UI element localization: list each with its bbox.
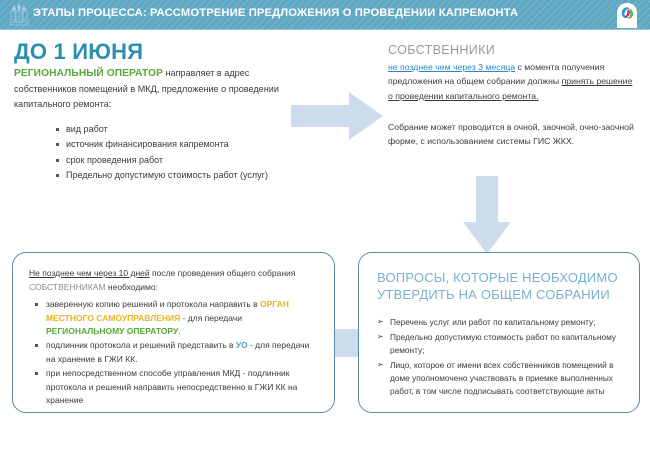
bullet-pre: подлинник протокола и решений представит… bbox=[46, 340, 236, 350]
bullet-pre: заверенную копию решений и протокола нап… bbox=[46, 299, 260, 309]
box-after-meeting-actions: Не позднее чем через 10 дней после прове… bbox=[12, 252, 335, 413]
list-item: подлинник протокола и решений представит… bbox=[35, 339, 318, 366]
arrow-right-icon bbox=[291, 92, 383, 140]
box-left-intro-end: необходимо: bbox=[106, 282, 158, 292]
box-left-bullet-list: заверенную копию решений и протокола нап… bbox=[29, 298, 318, 407]
coat-of-arms-icon bbox=[8, 2, 30, 28]
heading-deadline-date: ДО 1 ИЮНЯ bbox=[14, 40, 314, 63]
list-item: вид работ bbox=[56, 122, 314, 137]
left-top-paragraph: РЕГИОНАЛЬНЫЙ ОПЕРАТОР направляет в адрес… bbox=[14, 66, 314, 111]
right-top-paragraph: не позднее чем через 3 месяца с момента … bbox=[388, 60, 638, 103]
regional-operator-label: РЕГИОНАЛЬНЫЙ ОПЕРАТОР bbox=[14, 68, 163, 79]
management-company-label: УО bbox=[236, 340, 248, 350]
right-top-block: СОБСТВЕННИКИ не позднее чем через 3 меся… bbox=[388, 43, 638, 103]
regional-operator-label: РЕГИОНАЛЬНОМУ ОПЕРАТОРУ bbox=[46, 326, 178, 336]
meeting-form-note: Собрание может проводится в очной, заочн… bbox=[388, 120, 638, 149]
header-bar: ЭТАПЫ ПРОЦЕССА: РАССМОТРЕНИЕ ПРЕДЛОЖЕНИЯ… bbox=[0, 0, 650, 30]
list-item: Предельно допустимую стоимость работ по … bbox=[377, 331, 625, 357]
box-left-intro-rest: после проведения общего собрания bbox=[150, 268, 296, 278]
box-left-intro: Не позднее чем через 10 дней после прове… bbox=[29, 267, 318, 294]
box-meeting-questions: ВОПРОСЫ, КОТОРЫЕ НЕОБХОДИМО УТВЕРДИТЬ НА… bbox=[358, 252, 640, 413]
list-item: при непосредственном способе управления … bbox=[35, 367, 318, 407]
heading-questions: ВОПРОСЫ, КОТОРЫЕ НЕОБХОДИМО УТВЕРДИТЬ НА… bbox=[359, 253, 639, 303]
deadline-10-days: Не позднее чем через 10 дней bbox=[29, 268, 150, 278]
list-item: заверенную копию решений и протокола нап… bbox=[35, 298, 318, 338]
swirl-logo-icon bbox=[616, 3, 638, 28]
header-title: ЭТАПЫ ПРОЦЕССА: РАССМОТРЕНИЕ ПРЕДЛОЖЕНИЯ… bbox=[33, 7, 518, 19]
deadline-link[interactable]: не позднее чем через 3 месяца bbox=[388, 62, 515, 72]
slide-canvas: ЭТАПЫ ПРОЦЕССА: РАССМОТРЕНИЕ ПРЕДЛОЖЕНИЯ… bbox=[0, 0, 650, 450]
arrow-down-icon bbox=[463, 176, 511, 254]
box-right-bullet-list: Перечень услуг или работ по капитальному… bbox=[359, 316, 639, 398]
bullet-mid: - для передачи bbox=[180, 313, 242, 323]
bullet-pre: при непосредственном способе управления … bbox=[46, 368, 297, 405]
heading-owners: СОБСТВЕННИКИ bbox=[388, 43, 638, 57]
list-item: Лицо, которое от имени всех собственнико… bbox=[377, 359, 625, 398]
bullet-post: . bbox=[178, 326, 180, 336]
list-item: Предельно допустимую стоимость работ (ус… bbox=[56, 168, 314, 183]
list-item: Перечень услуг или работ по капитальному… bbox=[377, 316, 625, 329]
list-item: срок проведения работ bbox=[56, 153, 314, 168]
left-top-block: ДО 1 ИЮНЯ РЕГИОНАЛЬНЫЙ ОПЕРАТОР направля… bbox=[14, 40, 314, 184]
owners-label: СОБСТВЕННИКАМ bbox=[29, 282, 106, 292]
list-item: источник финансирования капремонта bbox=[56, 137, 314, 152]
left-top-bullet-list: вид работ источник финансирования капрем… bbox=[14, 122, 314, 184]
